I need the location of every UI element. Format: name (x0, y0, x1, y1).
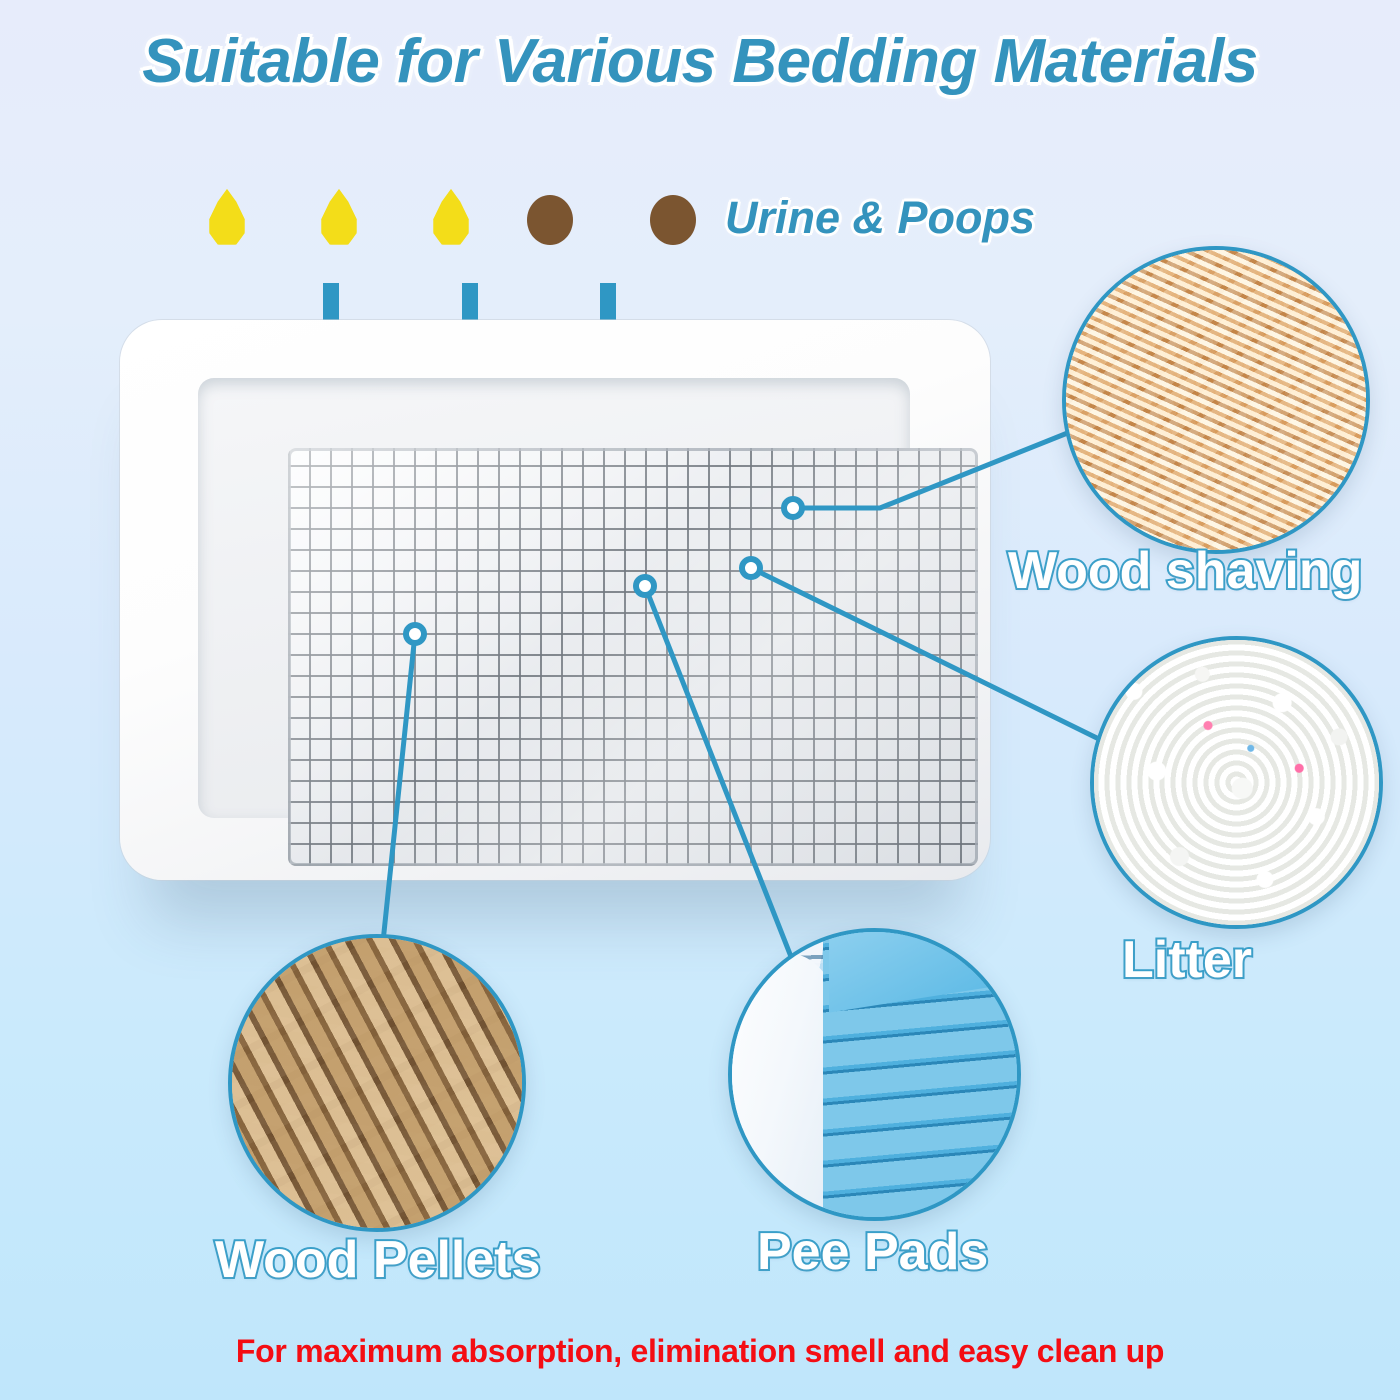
callout-image-pee-pads[interactable] (728, 928, 1021, 1221)
pee-pads-texture (732, 932, 1017, 1217)
tray-inner-lip (198, 378, 910, 818)
product-image-tray (85, 300, 1025, 900)
footer-caption: For maximum absorption, elimination smel… (0, 1333, 1400, 1370)
urine-poops-label: Urine & Poops (725, 192, 1035, 244)
mesh-sheen-overlay (288, 448, 978, 866)
wood-shaving-texture (1066, 250, 1366, 550)
infographic-canvas: Suitable for Various Bedding Materials U… (0, 0, 1400, 1400)
urine-drop-icon (318, 189, 360, 247)
tray-outer-shell (120, 320, 990, 880)
urine-drop-icon (430, 189, 472, 247)
callout-label-pee-pads: Pee Pads (757, 1222, 988, 1282)
litter-texture (1094, 640, 1379, 925)
urine-drop-icon (206, 189, 248, 247)
wood-pellets-texture (232, 938, 522, 1228)
poop-dot-icon (527, 195, 573, 245)
callout-label-wood-pellets: Wood Pellets (215, 1230, 541, 1290)
callout-image-wood-shaving[interactable] (1062, 246, 1370, 554)
callout-image-wood-pellets[interactable] (228, 934, 526, 1232)
callout-label-litter: Litter (1122, 930, 1252, 990)
callout-label-wood-shaving: Wood shaving (1008, 541, 1362, 601)
poop-dot-icon (650, 195, 696, 245)
wire-mesh-grid (288, 448, 978, 866)
page-title: Suitable for Various Bedding Materials (0, 26, 1400, 97)
callout-image-litter[interactable] (1090, 636, 1383, 929)
